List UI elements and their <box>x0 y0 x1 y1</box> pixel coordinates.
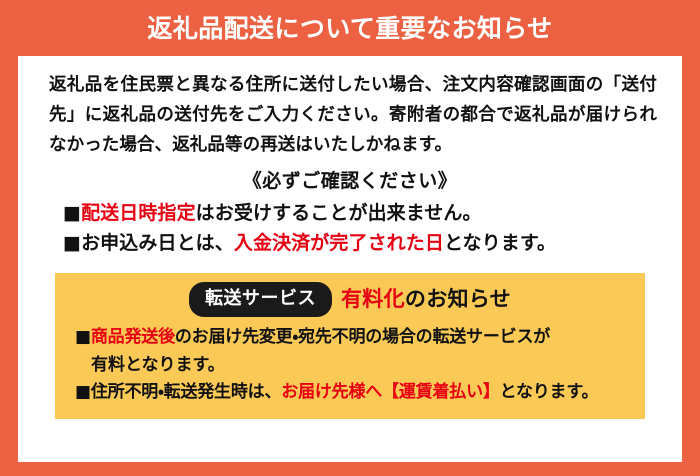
transfer-heading-rest: のお知らせ <box>405 287 511 311</box>
transfer-marker: ■ <box>75 327 91 347</box>
notice-card: 返礼品配送について重要なお知らせ 返礼品を住民票と異なる住所に送付したい場合、注… <box>0 0 700 476</box>
transfer-marker: ■ <box>75 382 91 402</box>
bullet-marker: ■ <box>63 202 81 224</box>
bullet-marker: ■ <box>63 232 81 254</box>
transfer-service-box: 転送サービス 有料化のお知らせ ■商品発送後のお届け先変更・宛先不明の場合の転送… <box>55 273 645 419</box>
transfer-service-badge: 転送サービス <box>189 282 332 317</box>
transfer-heading: 転送サービス 有料化のお知らせ <box>55 282 645 317</box>
page-title: 返礼品配送について重要なお知らせ <box>147 16 552 41</box>
transfer-line-shipping-change-continuation: 有料となります。 <box>55 352 645 380</box>
notice-header: 返礼品配送について重要なお知らせ <box>18 0 682 56</box>
bullet-line-delivery-date: ■配送日時指定はお受けすることが出来ません。 <box>37 199 663 228</box>
bullet-highlight: 配送日時指定 <box>81 202 196 224</box>
transfer-lead: 住所不明・転送発生時は、 <box>91 382 281 402</box>
intro-paragraph: 返礼品を住民票と異なる住所に送付したい場合、注文内容確認画面の「送付先」に返礼品… <box>37 70 663 160</box>
notice-body: 返礼品を住民票と異なる住所に送付したい場合、注文内容確認画面の「送付先」に返礼品… <box>18 56 682 462</box>
transfer-heading-text: 有料化のお知らせ <box>341 289 511 310</box>
confirm-heading: 《必ずご確認ください》 <box>37 172 663 191</box>
transfer-line-shipping-change: ■商品発送後のお届け先変更・宛先不明の場合の転送サービスが <box>55 324 645 352</box>
transfer-highlight: 商品発送後 <box>91 327 175 347</box>
bullet-highlight: 入金決済が完了された日 <box>234 232 444 254</box>
transfer-heading-highlight: 有料化 <box>341 287 405 311</box>
bullet-line-application-date: ■お申込み日とは、入金決済が完了された日となります。 <box>37 229 663 258</box>
bullet-rest: はお受けすることが出来ません。 <box>196 202 482 224</box>
transfer-line-unknown-address: ■住所不明・転送発生時は、お届け先様へ【運賃着払い】となります。 <box>55 379 645 407</box>
transfer-highlight: お届け先様へ【運賃着払い】 <box>281 382 499 402</box>
bullet-rest: となります。 <box>444 232 556 254</box>
transfer-rest: となります。 <box>500 382 599 402</box>
transfer-rest: のお届け先変更・宛先不明の場合の転送サービスが <box>175 327 550 347</box>
bullet-lead: お申込み日とは、 <box>81 232 234 254</box>
